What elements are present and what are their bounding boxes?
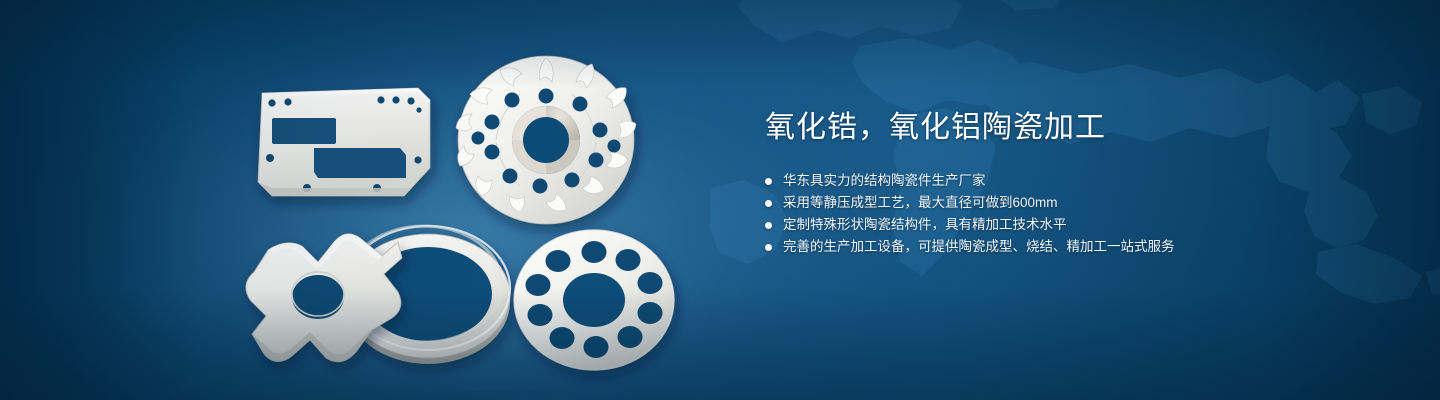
- list-item: 华东具实力的结构陶瓷件生产厂家: [765, 170, 1385, 192]
- page-title: 氧化锆，氧化铝陶瓷加工: [765, 108, 1385, 148]
- dot-icon: [765, 200, 772, 207]
- list-item-label: 采用等静压成型工艺，最大直径可做到600mm: [783, 192, 1058, 214]
- list-item-label: 完善的生产加工设备，可提供陶瓷成型、烧结、精加工一站式服务: [783, 236, 1175, 258]
- feature-list: 华东具实力的结构陶瓷件生产厂家 采用等静压成型工艺，最大直径可做到600mm 定…: [765, 170, 1385, 258]
- dot-icon: [765, 222, 772, 229]
- hero-copy: 氧化锆，氧化铝陶瓷加工 华东具实力的结构陶瓷件生产厂家 采用等静压成型工艺，最大…: [765, 108, 1385, 258]
- dot-icon: [765, 244, 772, 251]
- list-item: 采用等静压成型工艺，最大直径可做到600mm: [765, 192, 1385, 214]
- dot-icon: [765, 178, 772, 185]
- list-item-label: 华东具实力的结构陶瓷件生产厂家: [783, 170, 986, 192]
- hero-banner: 氧化锆，氧化铝陶瓷加工 华东具实力的结构陶瓷件生产厂家 采用等静压成型工艺，最大…: [0, 0, 1440, 400]
- list-item: 完善的生产加工设备，可提供陶瓷成型、烧结、精加工一站式服务: [765, 236, 1385, 258]
- list-item: 定制特殊形状陶瓷结构件，具有精加工技术水平: [765, 214, 1385, 236]
- list-item-label: 定制特殊形状陶瓷结构件，具有精加工技术水平: [783, 214, 1067, 236]
